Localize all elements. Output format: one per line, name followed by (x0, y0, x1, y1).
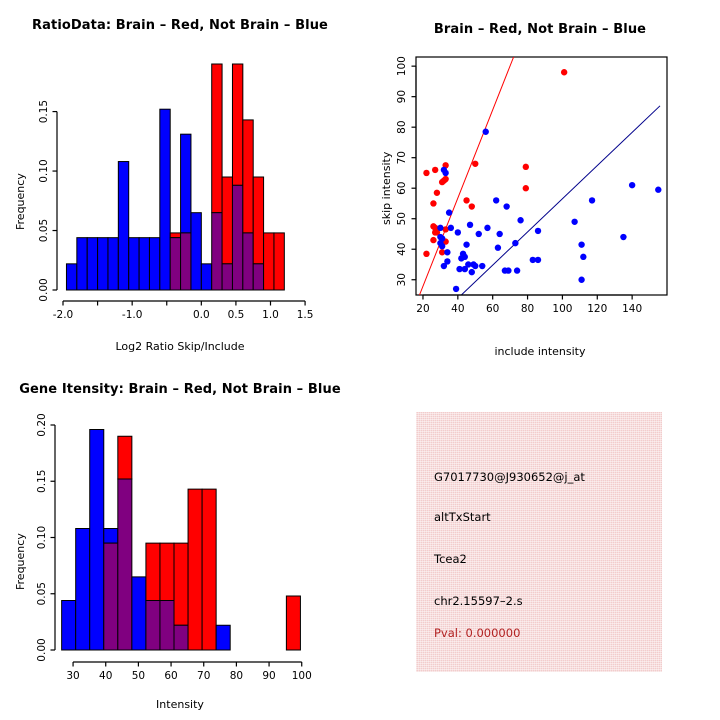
hist-bar-segment (118, 436, 132, 479)
y-axis: 0.000.050.100.150.20 (36, 413, 55, 661)
scatter-point (589, 197, 595, 203)
x-tick-label: 80 (230, 670, 243, 682)
x-tick-label: 0.0 (193, 309, 210, 321)
scatter-point (493, 197, 499, 203)
hist-bar-overlap (118, 479, 132, 650)
scatter-point (578, 277, 584, 283)
hist-bar-segment (160, 543, 174, 600)
scatter-point (580, 254, 586, 260)
hist-bar-segment (253, 177, 263, 264)
hist-bar-segment (212, 64, 222, 213)
hist-bar-segment (108, 238, 118, 290)
scatter-point (469, 203, 475, 209)
hist-bar-overlap (212, 213, 222, 290)
hist-bar-segment (149, 238, 159, 290)
hist-bar-segment (170, 233, 180, 238)
scatter-point (629, 182, 635, 188)
x-tick-label: 90 (262, 670, 275, 682)
y-tick-label: 0.20 (36, 413, 48, 436)
panel-info: G7017730@J930652@j_at altTxStart Tcea2 c… (360, 360, 720, 720)
not-brain-fit-line (461, 106, 660, 295)
hist-bar-segment (191, 213, 201, 290)
x-tick-label: 140 (622, 303, 642, 315)
x-tick-label: 40 (99, 670, 112, 682)
scatter-point (472, 161, 478, 167)
hist-bar-segment (129, 238, 139, 290)
x-tick-label: 100 (552, 303, 572, 315)
x-tick-label: 100 (292, 670, 312, 682)
hist-bar-segment (98, 238, 108, 290)
hist-bar-overlap (243, 233, 253, 290)
hist-bar-segment (264, 233, 274, 290)
scatter-point (423, 170, 429, 176)
event-type-text: altTxStart (434, 510, 491, 524)
y-tick-label: 100 (396, 56, 408, 76)
scatter-point (444, 249, 450, 255)
y-tick-label: 0.10 (38, 159, 50, 182)
scatter-point (439, 179, 445, 185)
hist-bar-segment (222, 177, 232, 264)
scatter-point (458, 255, 464, 261)
y-tick-label: 80 (396, 120, 408, 133)
scatter-point (523, 185, 529, 191)
panel-ratio-histogram: RatioData: Brain – Red, Not Brain – Blue… (0, 0, 360, 360)
scatter-plot-box (416, 57, 667, 295)
x-tick-label: 20 (416, 303, 429, 315)
hist-bar-segment (132, 577, 146, 650)
scatter-point (430, 237, 436, 243)
y-tick-label: 0.15 (38, 100, 50, 123)
scatter-point (620, 234, 626, 240)
y-tick-label: 0.05 (38, 219, 50, 242)
hist-bar-segment (104, 529, 118, 544)
scatter-point (476, 231, 482, 237)
x-axis: 20406080100120140 (416, 295, 642, 315)
hist-bar-segment (139, 238, 149, 290)
scatter-point (432, 229, 438, 235)
scatter-point (432, 167, 438, 173)
y-tick-label: 90 (396, 90, 408, 103)
scatter-plot: 3040506070809010020406080100120140 (360, 0, 720, 360)
probe-id-text: G7017730@J930652@j_at (434, 470, 585, 484)
hist-bar-segment (76, 529, 90, 651)
y-tick-label: 50 (396, 212, 408, 225)
x-tick-label: 60 (164, 670, 177, 682)
x-tick-label: 40 (451, 303, 464, 315)
hist-bar-overlap (253, 264, 263, 290)
hist-bar-segment (188, 489, 202, 650)
x-tick-label: 1.0 (262, 309, 279, 321)
hist-bar-segment (77, 238, 87, 290)
x-tick-label: 70 (197, 670, 210, 682)
y-axis: 30405060708090100 (396, 56, 416, 286)
scatter-point (434, 190, 440, 196)
scatter-point (512, 240, 518, 246)
scatter-point (444, 258, 450, 264)
y-axis: 0.000.050.100.15 (38, 100, 57, 302)
hist-bar-segment (118, 162, 128, 290)
hist-bar-overlap (174, 625, 188, 650)
hist-bar-overlap (170, 238, 180, 290)
scatter-point (467, 222, 473, 228)
scatter-point (505, 267, 511, 273)
hist-bar-overlap (232, 185, 242, 290)
hist-bar-segment (87, 238, 97, 290)
y-tick-label: 30 (396, 273, 408, 286)
scatter-point (484, 225, 490, 231)
scatter-point (495, 245, 501, 251)
x-tick-label: 50 (132, 670, 145, 682)
hist-bar-segment (202, 489, 216, 650)
hist-bar-overlap (160, 601, 174, 651)
scatter-point (463, 197, 469, 203)
y-tick-label: 0.00 (36, 638, 48, 661)
gene-histogram-plot: 0.000.050.100.150.2030405060708090100 (0, 360, 360, 720)
hist-bar-segment (90, 430, 104, 651)
y-tick-label: 0.05 (36, 582, 48, 605)
scatter-point (448, 225, 454, 231)
scatter-point (535, 257, 541, 263)
hist-bar-segment (286, 596, 300, 650)
hist-bar-segment (174, 543, 188, 625)
hist-bar-overlap (181, 233, 191, 290)
figure-canvas: RatioData: Brain – Red, Not Brain – Blue… (0, 0, 720, 720)
x-tick-label: 120 (587, 303, 607, 315)
scatter-points (423, 69, 661, 292)
hist-bar-overlap (222, 264, 232, 290)
hist-bar-segment (216, 625, 230, 650)
scatter-point (470, 261, 476, 267)
x-tick-label: 1.5 (297, 309, 314, 321)
scatter-point (439, 243, 445, 249)
x-tick-label: -2.0 (53, 309, 74, 321)
scatter-point (578, 241, 584, 247)
scatter-point (514, 267, 520, 273)
x-axis: -2.0-1.00.00.51.01.5 (53, 301, 314, 321)
scatter-point (453, 286, 459, 292)
y-tick-label: 70 (396, 151, 408, 164)
scatter-point (463, 241, 469, 247)
scatter-point (437, 225, 443, 231)
x-tick-label: 60 (486, 303, 499, 315)
hist-bar-segment (146, 543, 160, 600)
y-tick-label: 0.15 (36, 470, 48, 493)
panel-gene-histogram: Gene Itensity: Brain – Red, Not Brain – … (0, 360, 360, 720)
hist-bars (66, 64, 284, 290)
panel-scatter: Brain – Red, Not Brain – Blue skip inten… (360, 0, 720, 360)
y-tick-label: 40 (396, 243, 408, 256)
hist-bar-overlap (104, 543, 118, 650)
pval-text: Pval: 0.000000 (434, 626, 520, 640)
scatter-point (430, 200, 436, 206)
scatter-point (423, 251, 429, 257)
x-tick-label: -1.0 (122, 309, 143, 321)
scatter-point (442, 170, 448, 176)
ratio-histogram-plot: 0.000.050.100.15-2.0-1.00.00.51.01.5 (0, 0, 360, 360)
hist-bar-overlap (146, 601, 160, 651)
scatter-point (496, 231, 502, 237)
hist-bars (62, 430, 301, 651)
scatter-point (469, 269, 475, 275)
x-tick-label: 80 (521, 303, 534, 315)
hist-bar-segment (274, 233, 284, 290)
scatter-point (655, 187, 661, 193)
x-axis: 30405060708090100 (66, 662, 311, 682)
scatter-point (517, 217, 523, 223)
y-tick-label: 0.10 (36, 526, 48, 549)
x-tick-label: 0.5 (228, 309, 245, 321)
y-tick-label: 0.00 (38, 278, 50, 301)
scatter-point (462, 266, 468, 272)
scatter-point (479, 263, 485, 269)
hist-bar-segment (66, 264, 76, 290)
scatter-point (483, 129, 489, 135)
scatter-point (571, 219, 577, 225)
gene-info-box: G7017730@J930652@j_at altTxStart Tcea2 c… (416, 412, 662, 672)
scatter-point (561, 69, 567, 75)
x-tick-label: 30 (66, 670, 79, 682)
scatter-point (455, 229, 461, 235)
gene-symbol-text: Tcea2 (434, 552, 467, 566)
hist-bar-segment (181, 134, 191, 233)
hist-bar-segment (62, 601, 76, 651)
coordinate-text: chr2.15597–2.s (434, 594, 523, 608)
scatter-point (503, 203, 509, 209)
hist-bar-segment (232, 64, 242, 185)
hist-bar-segment (243, 120, 253, 233)
hist-bar-segment (160, 109, 170, 290)
y-tick-label: 60 (396, 182, 408, 195)
scatter-point (446, 209, 452, 215)
scatter-point (535, 228, 541, 234)
scatter-point (523, 164, 529, 170)
hist-bar-segment (201, 264, 211, 290)
